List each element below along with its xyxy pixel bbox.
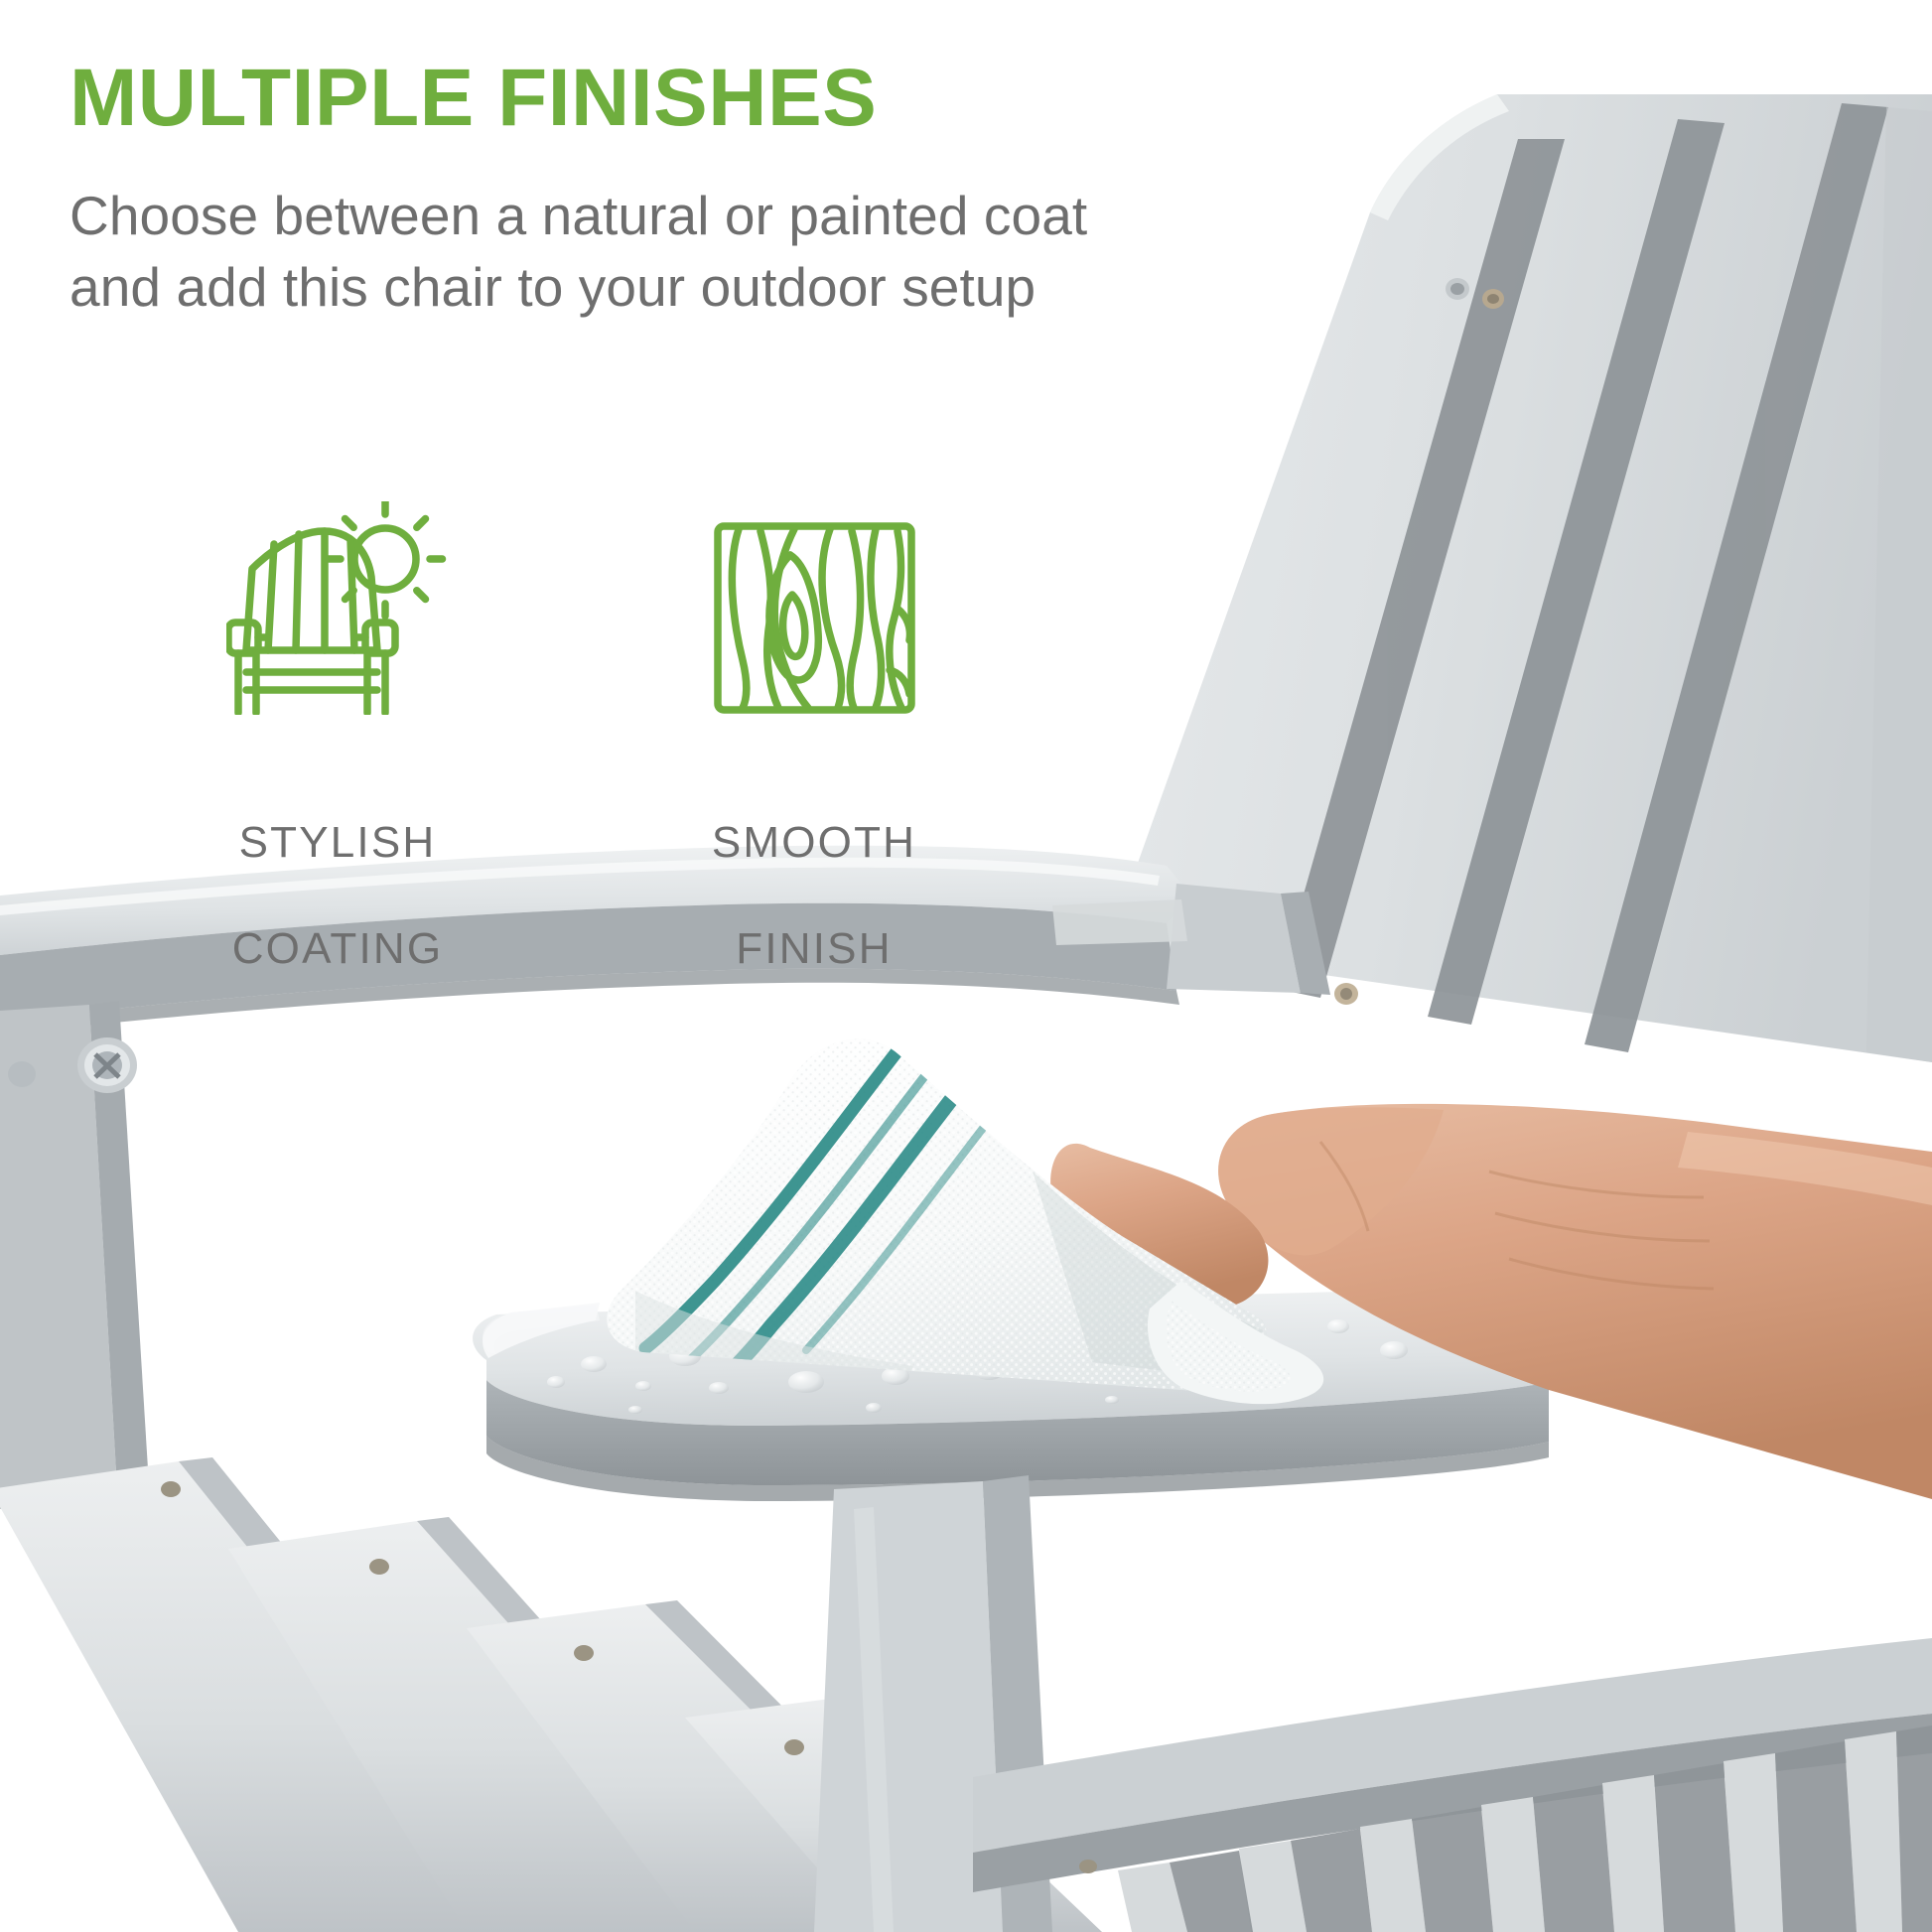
product-feature-banner: MULTIPLE FINISHES Choose between a natur… xyxy=(0,0,1932,1932)
chair-left-post xyxy=(0,1001,149,1509)
subheading-line-2: and add this chair to your outdoor setup xyxy=(69,252,1087,324)
chair-armrest-front-pad xyxy=(473,1291,1549,1501)
chair-seat-slats-left xyxy=(0,1457,1102,1932)
feature-smooth-finish: SMOOTH FINISH xyxy=(680,501,948,976)
backrest-screws xyxy=(1142,278,1504,1005)
water-droplets xyxy=(547,1318,1458,1414)
feature-label-line-2: FINISH xyxy=(736,924,892,973)
feature-label: STYLISH COATING xyxy=(232,762,444,976)
hand xyxy=(1040,1104,1932,1499)
feature-label-line-2: COATING xyxy=(232,924,444,973)
feature-list: STYLISH COATING xyxy=(204,501,948,976)
feature-label: SMOOTH FINISH xyxy=(712,762,916,976)
chair-lower-right-slats xyxy=(973,1638,1932,1932)
adirondack-chair-sun-icon xyxy=(226,501,450,715)
page-title: MULTIPLE FINISHES xyxy=(69,58,877,139)
feature-label-line-1: STYLISH xyxy=(239,818,437,867)
feature-stylish-coating: STYLISH COATING xyxy=(204,501,472,976)
feature-label-line-1: SMOOTH xyxy=(712,818,916,867)
armrest-back-bracket xyxy=(1052,884,1330,995)
chair-front-leg xyxy=(814,1475,1052,1932)
subheading: Choose between a natural or painted coat… xyxy=(69,181,1087,323)
wood-grain-plank-icon xyxy=(713,501,916,715)
subheading-line-1: Choose between a natural or painted coat xyxy=(69,181,1087,252)
post-bolt xyxy=(77,1037,137,1093)
striped-towel xyxy=(596,1023,1323,1420)
chair-backrest xyxy=(1127,94,1932,1062)
